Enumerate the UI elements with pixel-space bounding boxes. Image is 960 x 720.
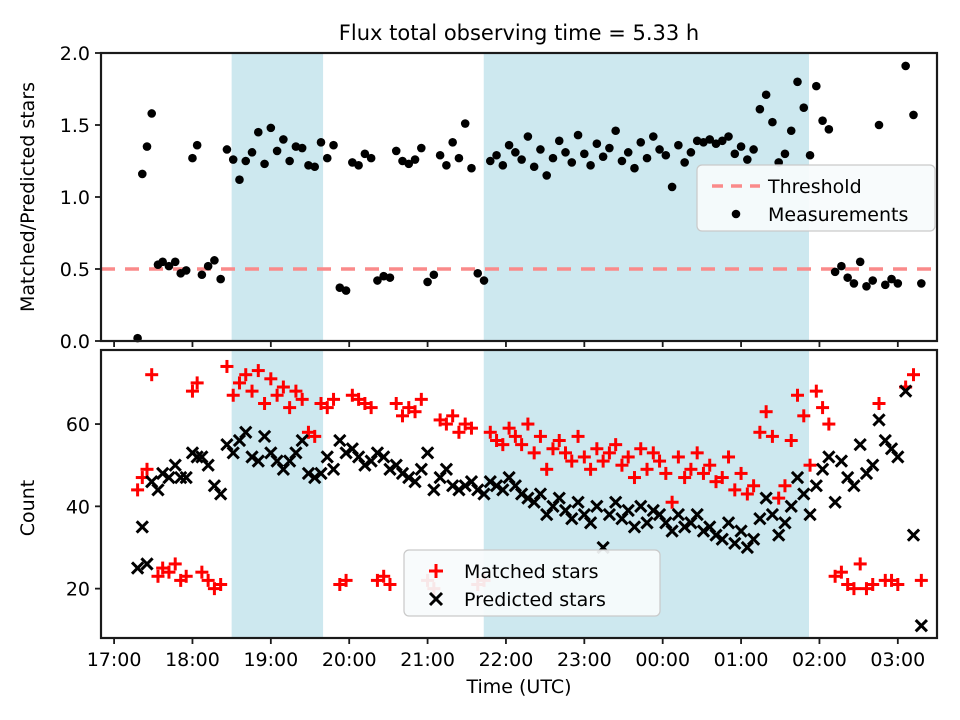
page-title: Flux total observing time = 5.33 h: [339, 21, 699, 45]
flux-observing-figure: 0.00.51.01.52.0 Flux total observing tim…: [0, 0, 960, 720]
measurement-point: [188, 154, 197, 163]
shaded-region-1: [232, 53, 323, 341]
measurement-point: [687, 148, 696, 157]
measurement-point: [793, 78, 802, 87]
legend-matched-label: Matched stars: [464, 561, 598, 583]
bottom-y-tick-label: 40: [66, 496, 90, 518]
measurement-point: [182, 266, 191, 275]
measurement-point: [436, 151, 445, 160]
measurement-point: [561, 148, 570, 157]
measurement-point: [806, 151, 815, 160]
measurement-point: [354, 161, 363, 170]
measurement-point: [530, 162, 539, 171]
measurement-point: [442, 161, 451, 170]
bottom-y-tick-label: 20: [66, 579, 90, 601]
measurement-point: [198, 270, 207, 279]
legend-measurements-label: Measurements: [768, 204, 908, 226]
measurement-point: [298, 144, 307, 153]
figure-root: 0.00.51.01.52.0 Flux total observing tim…: [0, 0, 960, 720]
measurement-point: [818, 116, 827, 125]
measurement-point: [567, 158, 576, 167]
measurement-point: [248, 148, 257, 157]
measurement-point: [542, 171, 551, 180]
legend-predicted-label: Predicted stars: [464, 589, 606, 611]
measurement-point: [223, 145, 232, 154]
measurement-point: [737, 142, 746, 151]
measurement-point: [580, 150, 589, 159]
measurement-point: [329, 141, 338, 150]
measurement-point: [260, 160, 269, 169]
measurement-point: [555, 137, 564, 146]
bottom-panel-y-ticks: 204060: [66, 414, 101, 601]
top-y-tick-label: 0.0: [60, 331, 90, 353]
measurement-point: [210, 256, 219, 265]
measurement-point: [674, 141, 683, 150]
measurement-point: [448, 138, 457, 147]
measurement-point: [605, 144, 614, 153]
bottom-panel-x-ticks: 17:0018:0019:0020:0021:0022:0023:0000:00…: [87, 638, 925, 671]
measurement-point: [599, 152, 608, 161]
bottom-x-tick-label: 02:00: [792, 649, 847, 671]
measurement-point: [618, 157, 627, 166]
measurement-point: [731, 150, 740, 159]
top-y-tick-label: 1.0: [60, 187, 90, 209]
measurement-point: [455, 154, 464, 163]
measurement-point: [430, 270, 439, 279]
measurement-point: [649, 132, 658, 141]
bottom-panel: 204060 17:0018:0019:0020:0021:0022:0023:…: [17, 350, 937, 698]
measurement-point: [285, 157, 294, 166]
legend-threshold-label: Threshold: [767, 176, 862, 198]
bottom-x-tick-label: 23:00: [557, 649, 612, 671]
measurement-point: [850, 279, 859, 288]
measurement-point: [524, 132, 533, 141]
measurement-point: [235, 175, 244, 184]
top-panel-y-ticks: 0.00.51.01.52.0: [60, 43, 101, 353]
top-y-tick-label: 2.0: [60, 43, 90, 65]
measurement-point: [279, 135, 288, 144]
measurement-point: [917, 279, 926, 288]
bottom-x-tick-label: 19:00: [243, 649, 298, 671]
bottom-x-tick-label: 00:00: [635, 649, 690, 671]
measurement-point: [342, 286, 351, 295]
measurement-point: [480, 276, 489, 285]
bottom-x-tick-label: 21:00: [400, 649, 455, 671]
top-panel: 0.00.51.01.52.0 Flux total observing tim…: [17, 21, 937, 353]
measurement-point: [724, 132, 733, 141]
measurement-point: [467, 164, 476, 173]
bottom-x-tick-label: 17:00: [87, 649, 142, 671]
measurement-point: [536, 145, 545, 154]
bottom-x-tick-label: 18:00: [165, 649, 220, 671]
measurement-point: [643, 154, 652, 163]
measurement-point: [636, 138, 645, 147]
measurement-point: [743, 155, 752, 164]
measurement-point: [875, 121, 884, 130]
measurement-point: [143, 142, 152, 151]
measurement-point: [138, 170, 147, 179]
measurement-point: [216, 275, 225, 284]
measurement-point: [768, 118, 777, 127]
bottom-panel-legend[interactable]: Matched stars Predicted stars: [404, 550, 660, 616]
x-axis-label: Time (UTC): [465, 676, 571, 698]
measurement-point: [837, 262, 846, 271]
measurement-point: [593, 139, 602, 148]
measurement-point: [505, 141, 514, 150]
measurement-point: [781, 150, 790, 159]
measurement-point: [762, 90, 771, 99]
bottom-x-tick-label: 01:00: [714, 649, 769, 671]
measurement-point: [630, 164, 639, 173]
measurement-point: [787, 126, 796, 135]
legend-measurements-swatch: [732, 210, 741, 219]
measurement-point: [662, 151, 671, 160]
measurement-point: [901, 62, 910, 71]
measurement-point: [825, 125, 834, 134]
measurement-point: [267, 124, 276, 133]
measurement-point: [411, 155, 420, 164]
measurement-point: [611, 126, 620, 135]
measurement-point: [193, 141, 202, 150]
measurement-point: [856, 258, 865, 267]
measurement-point: [461, 119, 470, 128]
measurement-point: [799, 103, 808, 112]
measurement-point: [171, 258, 180, 267]
measurement-point: [323, 154, 332, 163]
measurement-point: [812, 82, 821, 91]
measurement-point: [749, 145, 758, 154]
measurement-point: [586, 161, 595, 170]
measurement-point: [367, 154, 376, 163]
measurement-point: [668, 183, 677, 192]
measurement-point: [147, 109, 156, 118]
measurement-point: [756, 105, 765, 114]
measurement-point: [423, 278, 432, 287]
bottom-x-tick-label: 20:00: [322, 649, 377, 671]
measurement-point: [894, 279, 903, 288]
measurement-point: [680, 158, 689, 167]
measurement-point: [310, 162, 319, 171]
measurement-point: [549, 154, 558, 163]
measurement-point: [241, 157, 250, 166]
measurement-point: [511, 148, 520, 157]
measurement-point: [229, 155, 238, 164]
measurement-point: [574, 131, 583, 140]
measurement-point: [392, 147, 401, 156]
measurement-point: [417, 144, 426, 153]
measurement-point: [624, 148, 633, 157]
measurement-point: [386, 273, 395, 282]
top-y-tick-label: 0.5: [60, 259, 90, 281]
bottom-x-tick-label: 03:00: [870, 649, 925, 671]
measurement-point: [868, 276, 877, 285]
measurement-point: [517, 155, 526, 164]
measurement-point: [254, 128, 263, 137]
measurement-point: [492, 151, 501, 160]
top-y-tick-label: 1.5: [60, 115, 90, 137]
top-panel-y-axis-label: Matched/Predicted stars: [17, 82, 39, 312]
bottom-panel-y-axis-label: Count: [17, 480, 39, 536]
bottom-y-tick-label: 60: [66, 414, 90, 436]
measurement-point: [909, 111, 918, 120]
bottom-x-tick-label: 22:00: [479, 649, 534, 671]
top-panel-legend[interactable]: Threshold Measurements: [697, 165, 935, 231]
measurement-point: [473, 269, 482, 278]
measurement-point: [499, 161, 508, 170]
measurement-point: [273, 147, 282, 156]
measurement-point: [317, 138, 326, 147]
